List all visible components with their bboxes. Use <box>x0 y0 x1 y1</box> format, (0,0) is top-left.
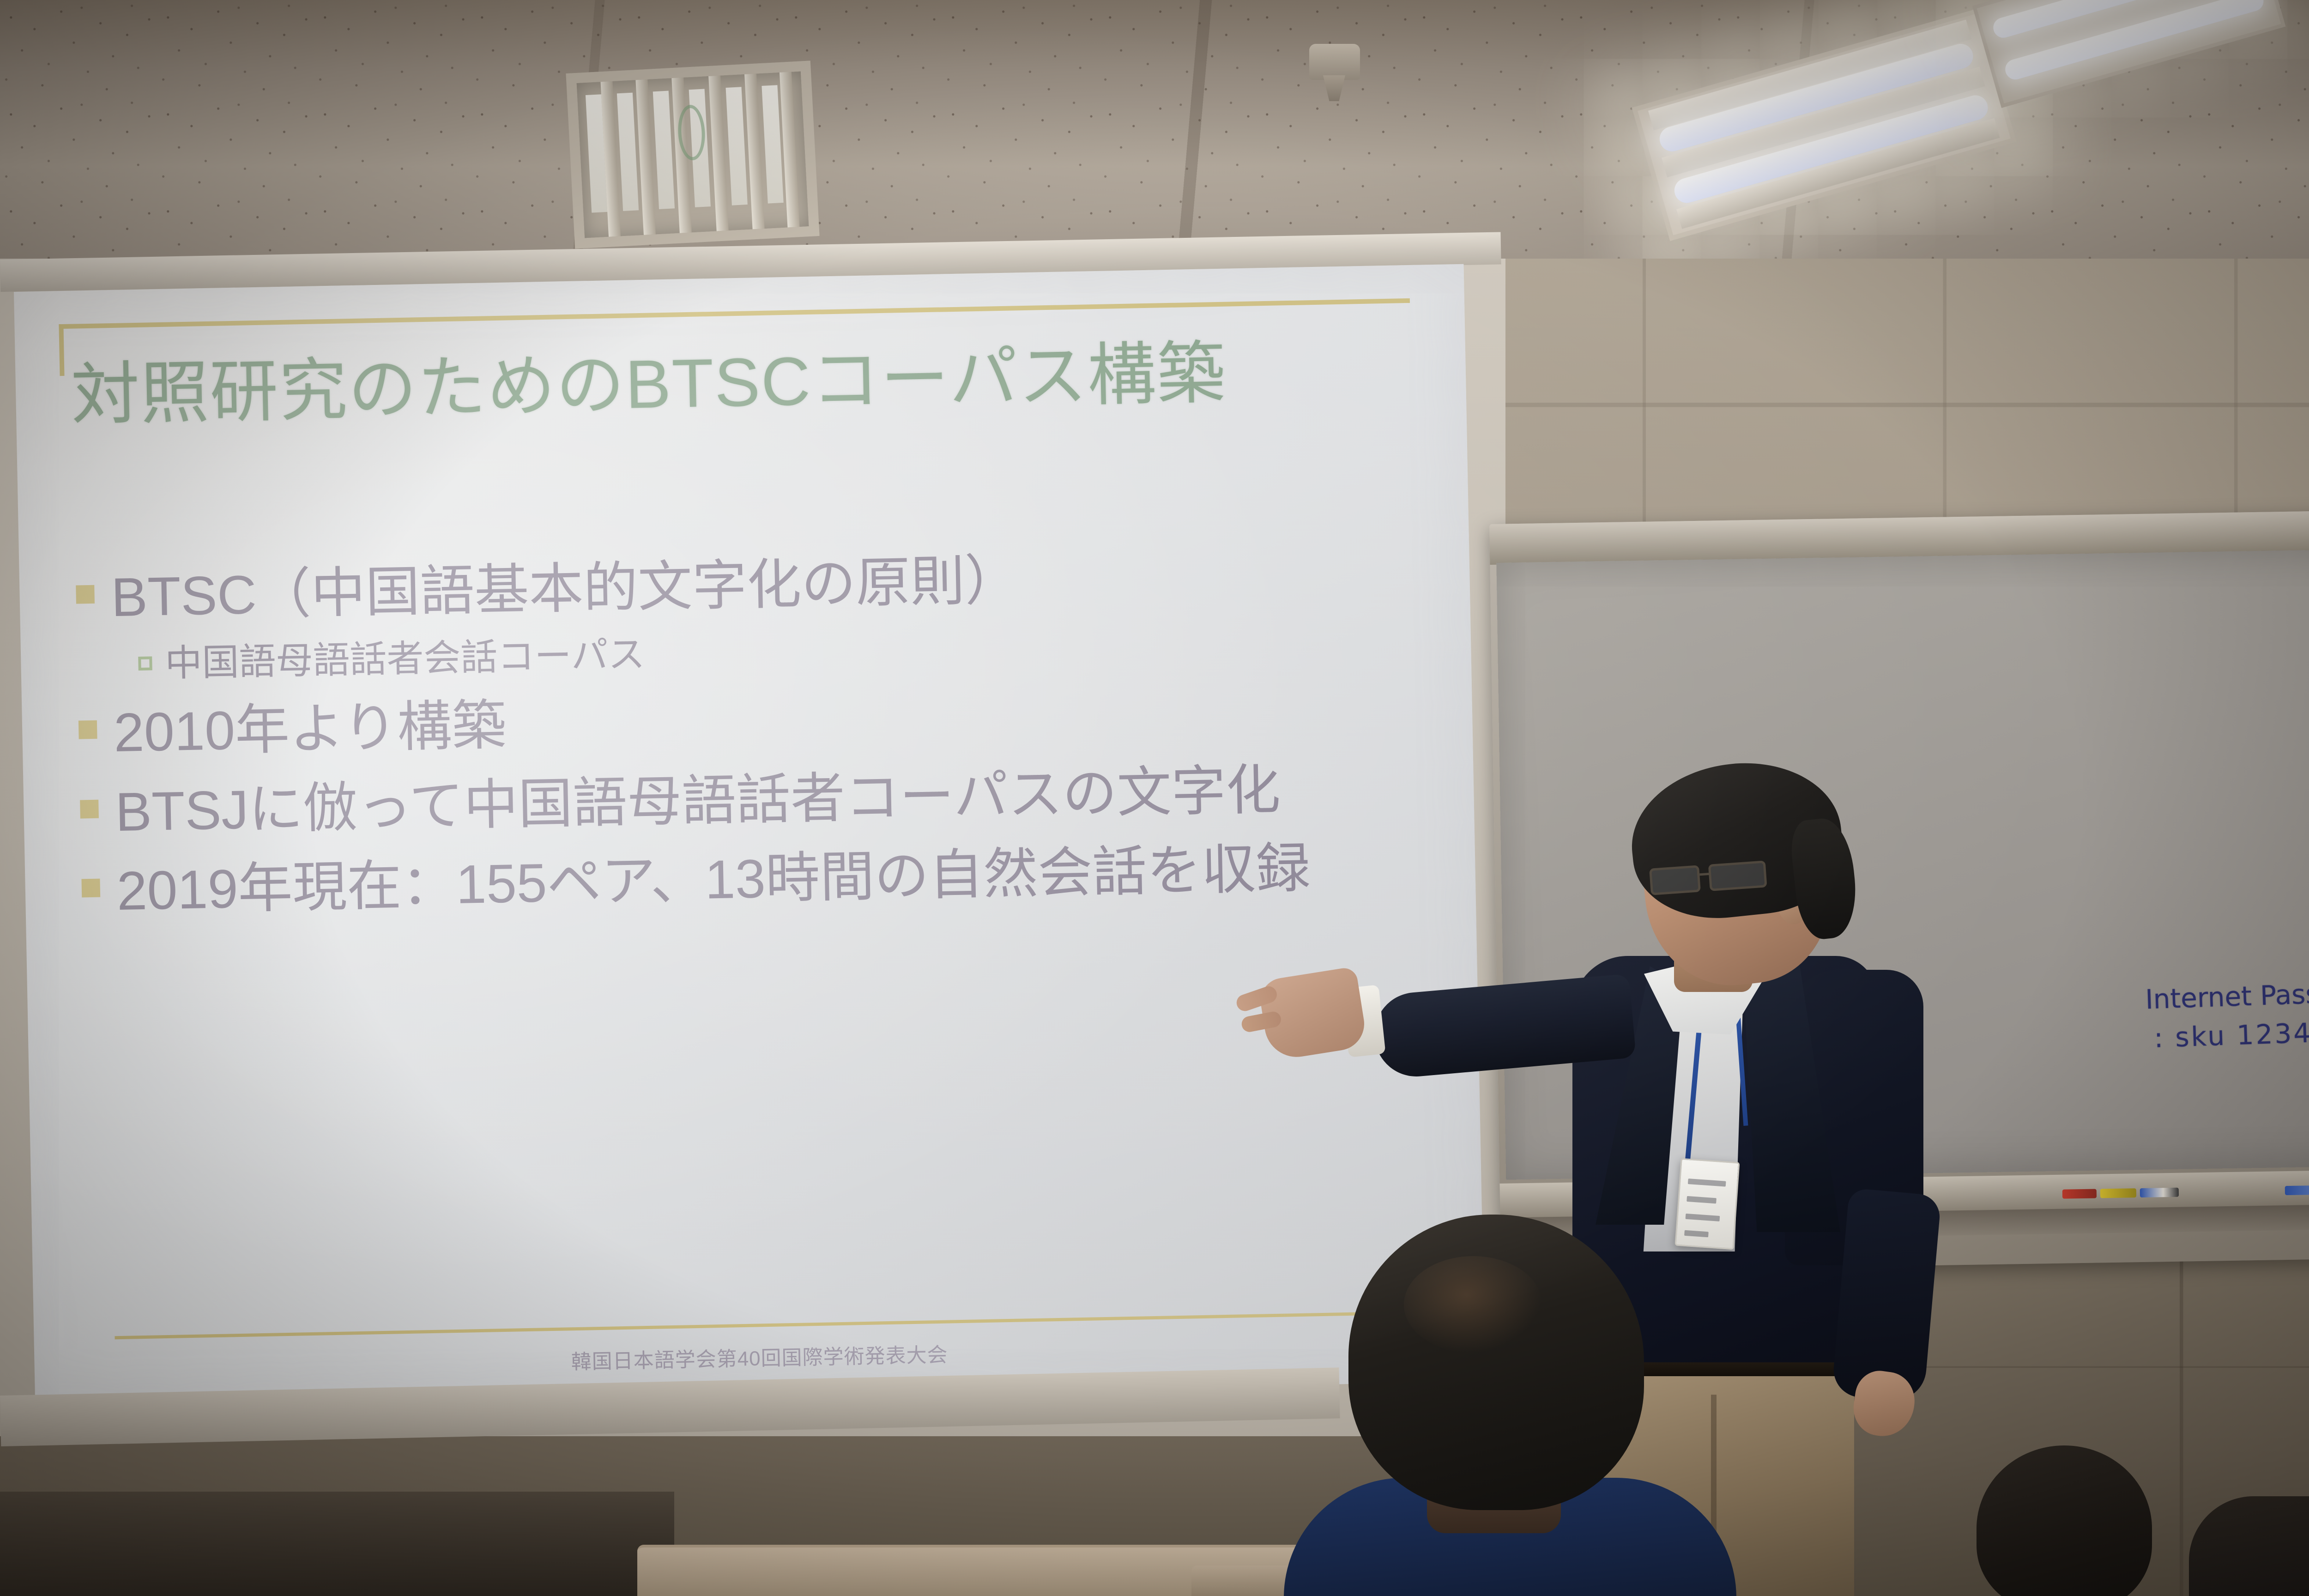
slide-bullet-item: BTSC（中国語基本的文字化の原則） <box>75 538 1419 634</box>
slide-bullet-item: 2019年現在：155ペア、13時間の自然会話を収録 <box>81 831 1425 928</box>
audience-member-front <box>1275 1201 1736 1596</box>
projected-slide: 対照研究のためのBTSCコーパス構築 BTSC（中国語基本的文字化の原則） 中国… <box>14 264 1485 1409</box>
filled-square-bullet-icon <box>79 720 97 739</box>
whiteboard-note: Internet Password : sku 123456 <box>2145 972 2309 1058</box>
whiteboard-note-line2: : sku 123456 <box>2153 1011 2309 1058</box>
louver-blade <box>744 74 765 230</box>
slide-bullet-item: 2010年より構築 <box>78 673 1422 769</box>
slide-bullet-list: BTSC（中国語基本的文字化の原則） 中国語母語話者会話コーパス 2010年より… <box>75 538 1425 936</box>
foreground-shadow <box>0 1492 674 1596</box>
louver-gap <box>617 93 639 212</box>
slide-sub-bullet-text: 中国語母語話者会話コーパス <box>165 631 646 687</box>
slide-bullet-item: BTSJに倣って中国語母語話者コーパスの文字化 <box>79 752 1423 848</box>
presenter-right-arm <box>1831 1188 1941 1403</box>
louver-gap <box>762 85 783 204</box>
black-marker-icon <box>2285 1185 2309 1195</box>
blue-marker-icon <box>2140 1188 2179 1197</box>
slide-title: 対照研究のためのBTSCコーパス構築 <box>71 330 1397 436</box>
audience-head <box>1348 1215 1644 1510</box>
filled-square-bullet-icon <box>76 585 95 604</box>
louver-gap <box>653 91 675 209</box>
whiteboard-note-line1: Internet Password <box>2145 976 2309 1015</box>
audience-head <box>1977 1445 2152 1596</box>
sprinkler-head-icon <box>1309 44 1360 80</box>
louvered-light-fixture-off <box>566 60 819 248</box>
louver-blade <box>780 72 800 228</box>
filled-square-bullet-icon <box>80 799 99 818</box>
louver-blade <box>708 76 729 231</box>
presenter-hair <box>1624 753 1849 927</box>
hollow-square-bullet-icon <box>138 657 152 671</box>
glasses-lens-right <box>1708 860 1767 891</box>
slide-accent-left-rule <box>59 324 64 376</box>
slide-bullet-text: BTSC（中国語基本的文字化の原則） <box>110 545 1020 633</box>
yellow-marker-icon <box>2100 1188 2136 1198</box>
audience-member-right <box>1949 1445 2207 1596</box>
lecture-room-photo: 対照研究のためのBTSCコーパス構築 BTSC（中国語基本的文字化の原則） 中国… <box>0 0 2309 1596</box>
slide-bullet-text: BTSJに倣って中国語母語話者コーパスの文字化 <box>115 755 1281 848</box>
badge-text-line <box>1688 1179 1726 1187</box>
slide-bullet-text: 2010年より構築 <box>113 690 507 769</box>
filled-square-bullet-icon <box>81 879 100 898</box>
slide-accent-top-rule <box>59 298 1410 329</box>
louver-gap <box>726 87 748 206</box>
glasses-bridge <box>1699 873 1710 876</box>
glasses-lens-left <box>1649 865 1701 895</box>
louver-blade <box>635 79 656 235</box>
slide-bullet-text: 2019年現在：155ペア、13時間の自然会話を収録 <box>116 834 1311 927</box>
